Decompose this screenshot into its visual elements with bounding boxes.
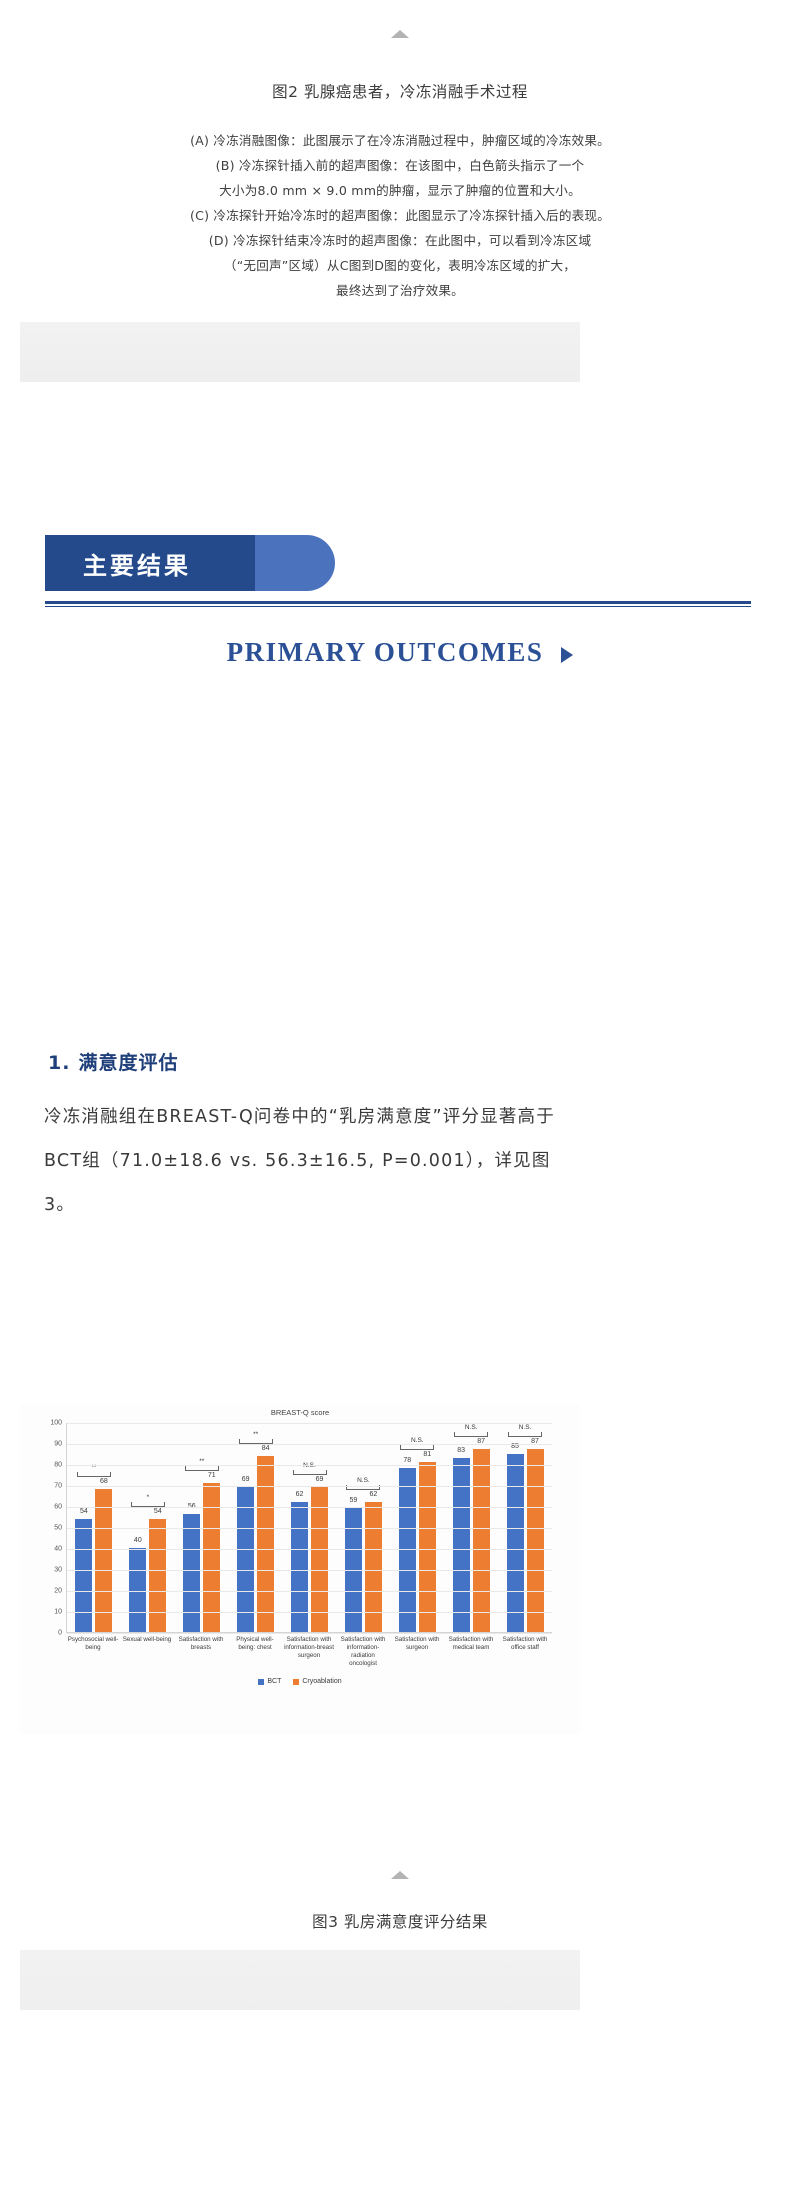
triangle-right-icon [561,647,573,663]
banner-divider-thin [45,606,751,607]
caption-line: (A) 冷冻消融图像：此图展示了在冷冻消融过程中，肿瘤区域的冷冻效果。 [110,128,690,153]
chart-bar: 69 [237,1487,254,1632]
chart-significance-marker: ** [77,1464,111,1477]
chart-y-tick: 70 [54,1483,67,1490]
chart-bar: 71 [203,1483,220,1632]
banner-divider [45,601,751,604]
chart-significance-marker: N.S. [454,1424,488,1437]
chart-legend-item[interactable]: Cryoablation [293,1678,341,1685]
chart-bar: 84 [257,1456,274,1632]
chart-bar-value-label: 62 [296,1491,304,1498]
primary-outcomes-section-header: 主要结果 PRIMARY OUTCOMES [0,535,800,668]
chart-x-label: Satisfaction with medical team [444,1636,498,1668]
chart-bar-value-label: 69 [316,1476,324,1483]
chart-gridline [67,1528,552,1529]
chart-x-label: Physical well-being: chest [228,1636,282,1668]
chart-x-label: Satisfaction with office staff [498,1636,552,1668]
chart-y-tick: 50 [54,1525,67,1532]
chart-bar: 83 [453,1458,470,1632]
page-root: 图2 乳腺癌患者，冷冻消融手术过程 (A) 冷冻消融图像：此图展示了在冷冻消融过… [0,0,800,2199]
chart-x-label: Satisfaction with information-radiation … [336,1636,390,1668]
chart-significance-marker: ** [239,1431,273,1444]
chart-bar-value-label: 40 [134,1537,142,1544]
chart-gridline [67,1633,552,1634]
chart-legend-swatch [258,1679,264,1685]
chart-gridline [67,1423,552,1424]
chart-bar-value-label: 62 [369,1491,377,1498]
chart-x-label: Satisfaction with information-breast sur… [282,1636,336,1668]
banner-accent-shape [255,535,335,591]
chart-plot-area: 5468**4054*5671**6984**6269N.S.5962N.S.7… [66,1423,552,1633]
chart-bar-value-label: 81 [423,1451,431,1458]
chart-legend-label: BCT [267,1678,281,1685]
chart-bar: 54 [149,1519,166,1632]
chart-bar: 69 [311,1487,328,1632]
outcome-1-heading: 1. 满意度评估 [48,1048,178,1075]
chart-legend-item[interactable]: BCT [258,1678,281,1685]
chart-bar: 68 [95,1489,112,1632]
caption-line: (B) 冷冻探针插入前的超声图像：在该图中，白色箭头指示了一个 [110,153,690,178]
chart-bar-value-label: 59 [349,1497,357,1504]
caption-line: 大小为8.0 mm × 9.0 mm的肿瘤，显示了肿瘤的位置和大小。 [110,178,690,203]
caption-line: (D) 冷冻探针结束冷冻时的超声图像：在此图中，可以看到冷冻区域 [110,228,690,253]
chart-y-tick: 100 [50,1420,67,1427]
section-english-title-row: PRIMARY OUTCOMES [0,637,800,668]
caption-line: （“无回声”区域）从C图到D图的变化，表明冷冻区域的扩大， [110,253,690,278]
chart-y-tick: 30 [54,1567,67,1574]
figure2-image-panel [20,322,580,382]
chart-gridline [67,1465,552,1466]
chart-y-tick: 10 [54,1609,67,1616]
figure3-title: 图3 乳房满意度评分结果 [0,1910,800,1932]
chart-bar: 78 [399,1468,416,1632]
chart-bar-value-label: 69 [242,1476,250,1483]
chart-y-tick: 60 [54,1504,67,1511]
chart-x-label: Satisfaction with surgeon [390,1636,444,1668]
scroll-down-caret-wrap [0,1871,800,1879]
caption-line: 最终达到了治疗效果。 [110,278,690,303]
chart-gridline [67,1591,552,1592]
figure2-title: 图2 乳腺癌患者，冷冻消融手术过程 [0,80,800,102]
outcome-heading-text: 满意度评估 [78,1048,178,1075]
figure3-image-panel [20,1950,580,2010]
chart-bar: 56 [183,1514,200,1632]
chart-gridline [67,1549,552,1550]
chart-y-tick: 40 [54,1546,67,1553]
chart-y-tick: 90 [54,1441,67,1448]
chart-significance-marker: N.S. [346,1477,380,1490]
scroll-up-caret-icon[interactable] [391,30,409,38]
section-banner: 主要结果 [45,535,295,591]
outcome-1-paragraph: 冷冻消融组在BREAST-Q问卷中的“乳房满意度”评分显著高于BCT组（71.0… [44,1095,564,1227]
chart-bar: 54 [75,1519,92,1632]
chart-legend: BCTCryoablation [20,1678,580,1685]
section-english-title: PRIMARY OUTCOMES [227,637,544,667]
chart-x-label: Psychosocial well-being [66,1636,120,1668]
chart-y-tick: 80 [54,1462,67,1469]
caption-line: (C) 冷冻探针开始冷冻时的超声图像：此图显示了冷冻探针插入后的表现。 [110,203,690,228]
chart-bar-value-label: 54 [80,1508,88,1515]
chart-bar: 81 [419,1462,436,1632]
chart-gridline [67,1570,552,1571]
chart-gridline [67,1507,552,1508]
chart-bar-value-label: 71 [208,1472,216,1479]
figure2-block: 图2 乳腺癌患者，冷冻消融手术过程 (A) 冷冻消融图像：此图展示了在冷冻消融过… [0,0,800,303]
chart-x-label: Satisfaction with breasts [174,1636,228,1668]
chart-x-axis-labels: Psychosocial well-beingSexual well-being… [66,1636,552,1668]
chart-gridline [67,1612,552,1613]
chart-significance-marker: N.S. [508,1424,542,1437]
chart-legend-label: Cryoablation [302,1678,341,1685]
chart-bar-value-label: 78 [403,1457,411,1464]
chart-title: BREAST-Q score [20,1404,580,1417]
scroll-up-caret-icon-2[interactable] [391,1871,409,1879]
chart-x-label: Sexual well-being [120,1636,174,1668]
chart-bar-value-label: 84 [262,1445,270,1452]
section-banner-title: 主要结果 [83,546,191,581]
outcome-number: 1. [48,1052,70,1074]
figure2-caption: (A) 冷冻消融图像：此图展示了在冷冻消融过程中，肿瘤区域的冷冻效果。 (B) … [110,128,690,303]
breast-q-chart: BREAST-Q score 5468**4054*5671**6984**62… [20,1404,580,1734]
chart-bar-value-label: 68 [100,1478,108,1485]
chart-bar-value-label: 83 [457,1447,465,1454]
chart-gridline [67,1444,552,1445]
chart-bar: 87 [527,1449,544,1632]
chart-bar: 40 [129,1548,146,1632]
chart-y-tick: 20 [54,1588,67,1595]
chart-bar: 85 [507,1454,524,1633]
chart-bar-value-label: 54 [154,1508,162,1515]
chart-legend-swatch [293,1679,299,1685]
chart-bar: 87 [473,1449,490,1632]
chart-gridline [67,1486,552,1487]
chart-significance-marker: * [131,1494,165,1507]
